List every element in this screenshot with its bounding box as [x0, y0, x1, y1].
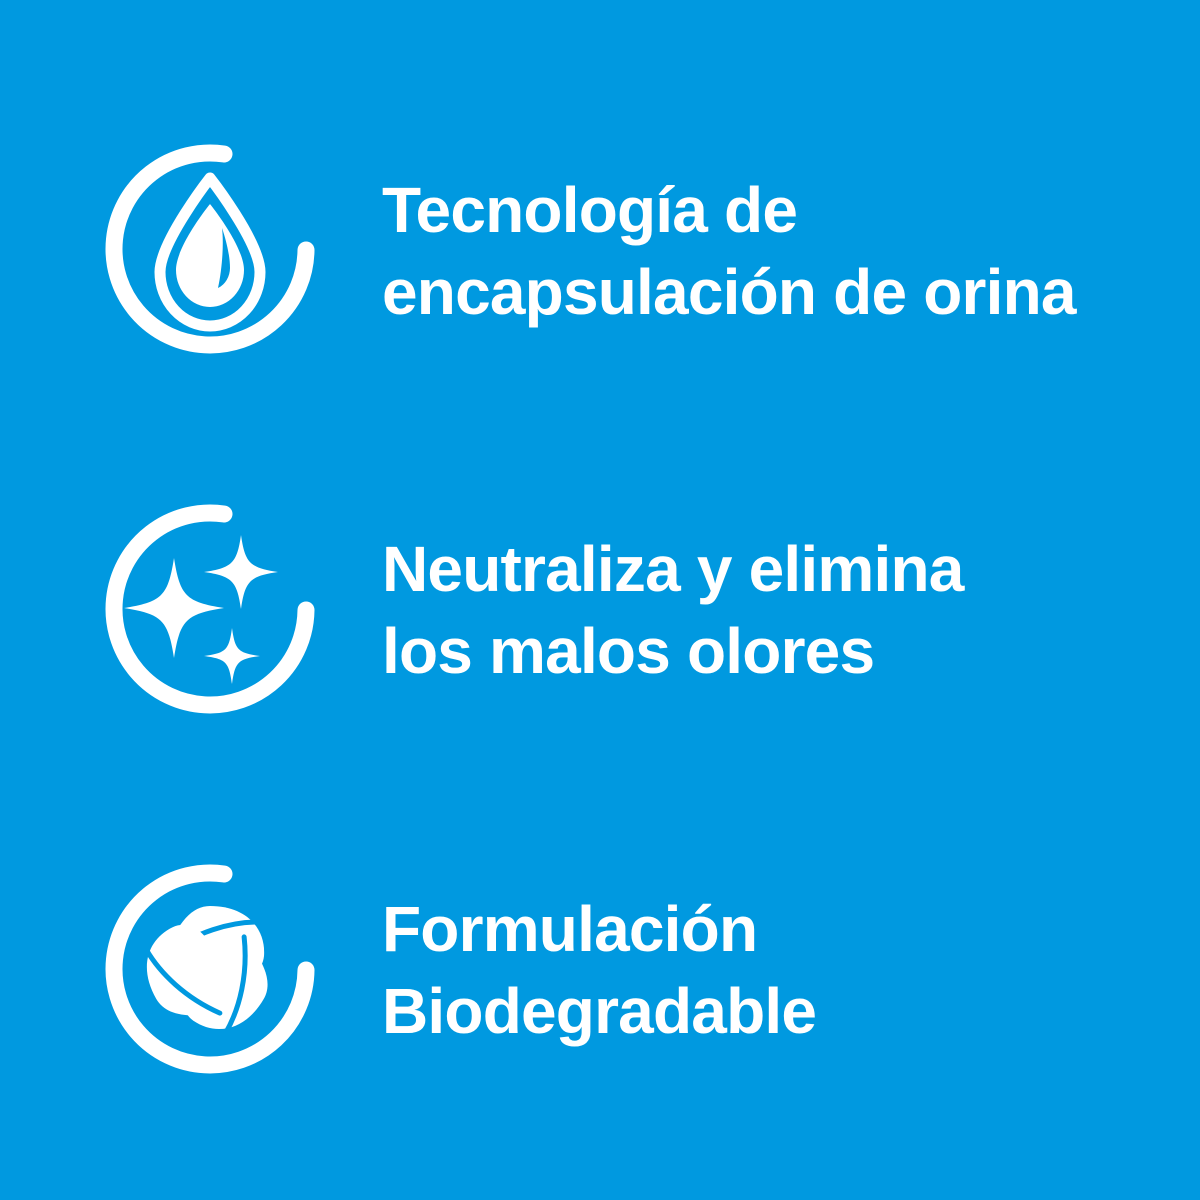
- urine-encapsulation-droplet-icon: [100, 140, 320, 360]
- benefit-row: Tecnología de encapsulación de orina: [100, 125, 1160, 375]
- biodegradable-leaves-icon: [100, 860, 320, 1080]
- benefit-label-biodegradable: Formulación Biodegradable: [382, 888, 816, 1052]
- benefit-label-encapsulation: Tecnología de encapsulación de orina: [382, 169, 1076, 333]
- benefit-row: Neutraliza y elimina los malos olores: [100, 485, 1160, 735]
- benefits-panel: Tecnología de encapsulación de orina Neu…: [0, 0, 1200, 1200]
- benefit-label-odor: Neutraliza y elimina los malos olores: [382, 528, 964, 692]
- sparkles-odor-neutralizer-icon: [100, 500, 320, 720]
- benefit-row: Formulación Biodegradable: [100, 845, 1160, 1095]
